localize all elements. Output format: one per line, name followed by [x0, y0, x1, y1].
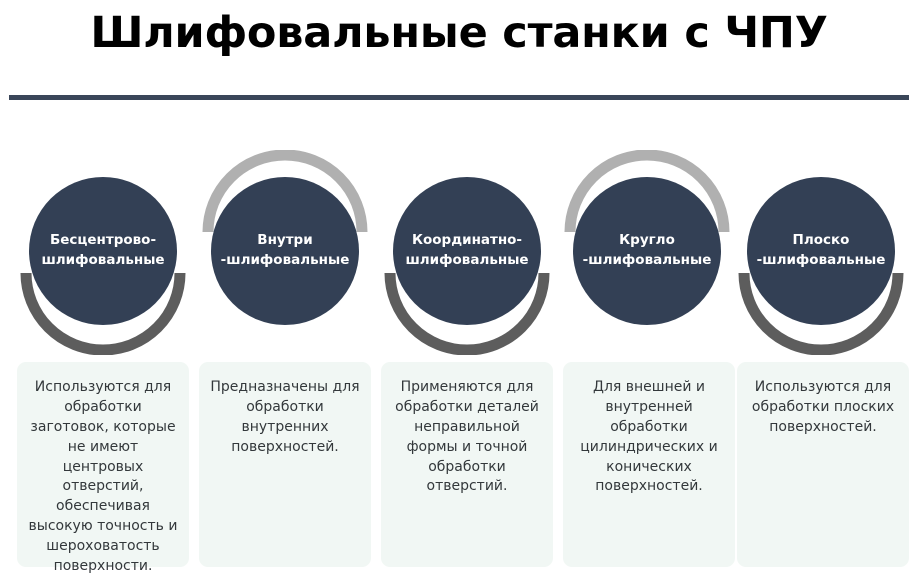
- description-text-5: Используются для обработки плоских повер…: [747, 378, 899, 438]
- page-header: Шлифовальные станки с ЧПУ: [0, 0, 918, 102]
- node-disc-5[interactable]: Плоско -шлифовальные: [747, 177, 895, 325]
- description-text-3: Применяются для обработки деталей неправ…: [391, 378, 543, 497]
- node-2[interactable]: Внутри -шлифовальные: [190, 150, 380, 355]
- description-text-4: Для внешней и внутренней обработки цилин…: [573, 378, 725, 497]
- node-label-5: Плоско -шлифовальные: [753, 231, 890, 270]
- node-5[interactable]: Плоско -шлифовальные: [726, 150, 916, 355]
- description-card-5: Используются для обработки плоских повер…: [737, 362, 909, 567]
- node-3[interactable]: Координатно- шлифовальные: [372, 150, 562, 355]
- node-label-1: Бесцентрово- шлифовальные: [37, 231, 168, 270]
- page-title: Шлифовальные станки с ЧПУ: [0, 8, 918, 58]
- description-text-2: Предназначены для обработки внутренних п…: [209, 378, 361, 458]
- title-divider: [9, 95, 909, 100]
- description-card-2: Предназначены для обработки внутренних п…: [199, 362, 371, 567]
- node-1[interactable]: Бесцентрово- шлифовальные: [8, 150, 198, 355]
- node-label-2: Внутри -шлифовальные: [217, 231, 354, 270]
- node-disc-3[interactable]: Координатно- шлифовальные: [393, 177, 541, 325]
- node-disc-4[interactable]: Кругло -шлифовальные: [573, 177, 721, 325]
- node-disc-2[interactable]: Внутри -шлифовальные: [211, 177, 359, 325]
- node-4[interactable]: Кругло -шлифовальные: [552, 150, 742, 355]
- description-card-1: Используются для обработки заготовок, ко…: [17, 362, 189, 567]
- description-text-1: Используются для обработки заготовок, ко…: [27, 378, 179, 577]
- node-label-3: Координатно- шлифовальные: [401, 231, 532, 270]
- description-cards: Используются для обработки заготовок, ко…: [0, 362, 918, 570]
- description-card-3: Применяются для обработки деталей неправ…: [381, 362, 553, 567]
- node-label-4: Кругло -шлифовальные: [579, 231, 716, 270]
- circles-band: Бесцентрово- шлифовальные Внутри -шлифов…: [0, 150, 918, 355]
- description-card-4: Для внешней и внутренней обработки цилин…: [563, 362, 735, 567]
- node-disc-1[interactable]: Бесцентрово- шлифовальные: [29, 177, 177, 325]
